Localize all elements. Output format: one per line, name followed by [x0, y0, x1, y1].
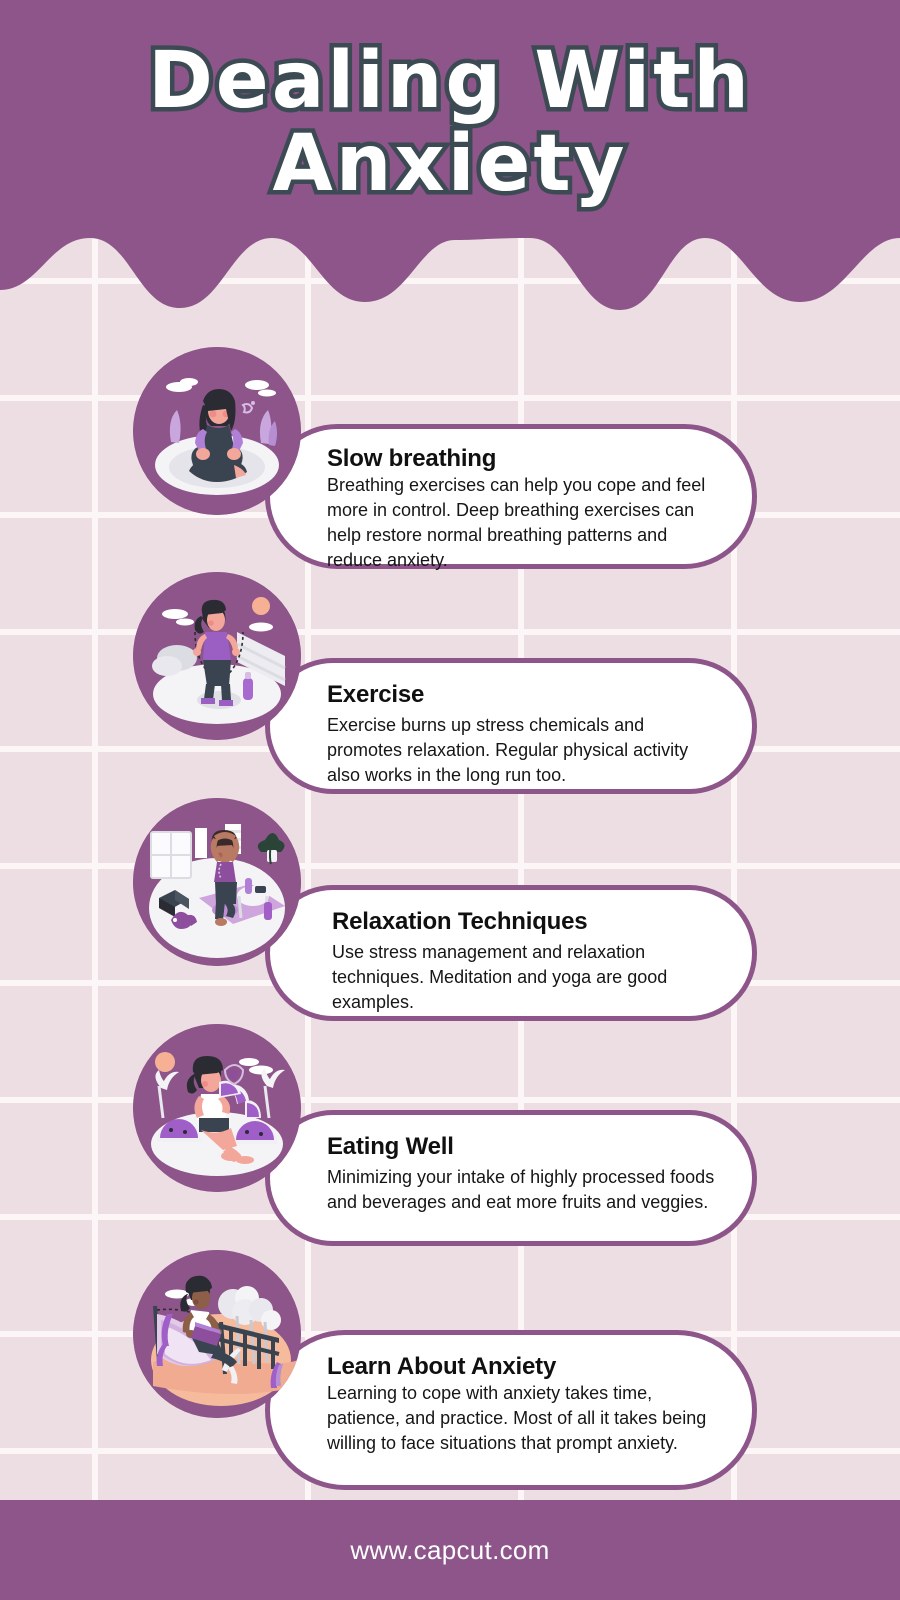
header-wave-shape — [0, 0, 900, 320]
card-learn-about-anxiety[interactable]: Learn About Anxiety Learning to cope wit… — [265, 1330, 757, 1490]
card-body: Use stress management and relaxation tec… — [332, 940, 718, 1015]
card-title: Slow breathing — [327, 445, 718, 473]
woman-reading-in-hammock-icon — [133, 1250, 301, 1418]
card-slow-breathing[interactable]: Slow breathing Breathing exercises can h… — [265, 424, 757, 569]
woman-meditating-icon — [133, 347, 301, 515]
footer-bar: www.capcut.com — [0, 1500, 900, 1600]
woman-doing-yoga-icon — [133, 798, 301, 966]
woman-eating-watermelon-icon — [133, 1024, 301, 1192]
card-title: Eating Well — [327, 1133, 718, 1161]
card-relaxation-techniques[interactable]: Relaxation Techniques Use stress managem… — [265, 885, 757, 1021]
card-body: Learning to cope with anxiety takes time… — [327, 1381, 718, 1456]
footer-url-text[interactable]: www.capcut.com — [350, 1535, 549, 1566]
card-title: Relaxation Techniques — [332, 908, 718, 936]
card-exercise[interactable]: Exercise Exercise burns up stress chemic… — [265, 658, 757, 794]
card-body: Exercise burns up stress chemicals and p… — [327, 713, 718, 788]
card-title: Learn About Anxiety — [327, 1353, 718, 1381]
card-title: Exercise — [327, 681, 718, 709]
card-body: Minimizing your intake of highly process… — [327, 1165, 718, 1215]
woman-jumping-rope-icon — [133, 572, 301, 740]
card-eating-well[interactable]: Eating Well Minimizing your intake of hi… — [265, 1110, 757, 1246]
card-body: Breathing exercises can help you cope an… — [327, 473, 718, 573]
header-banner: Dealing With Anxiety — [0, 0, 900, 320]
